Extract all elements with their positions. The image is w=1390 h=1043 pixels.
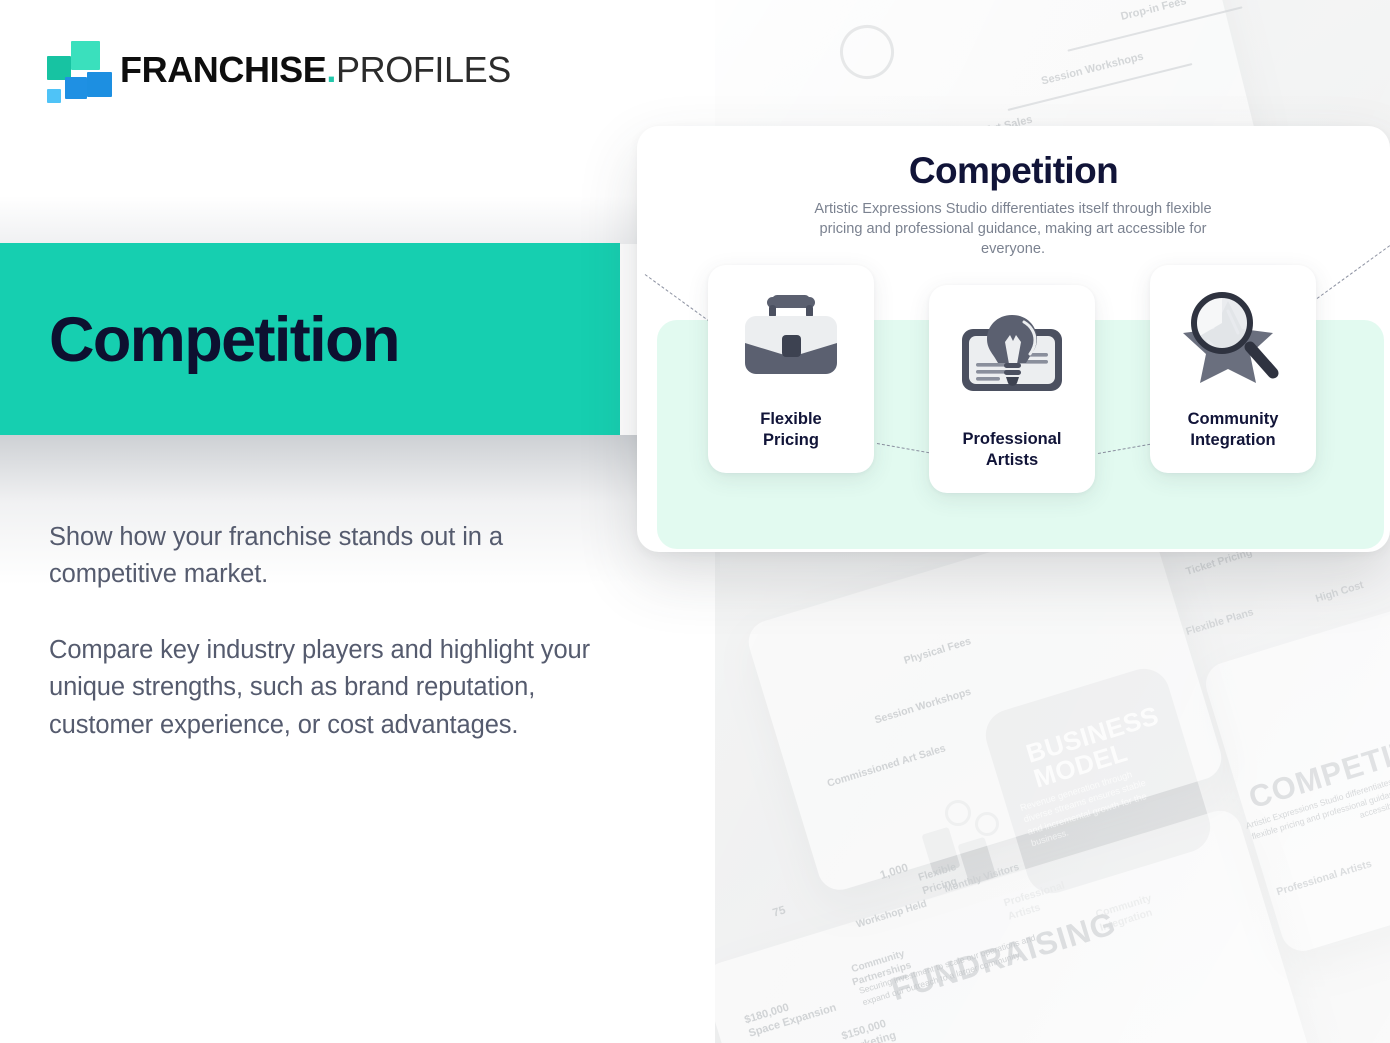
page-title: Competition [49,309,399,372]
brand-logo[interactable]: FRANCHISE.PROFILES [47,41,511,99]
description-paragraph-1: Show how your franchise stands out in a … [49,519,619,594]
logo-square-blue-large [87,72,112,97]
briefcase-icon [708,265,874,409]
connector-line-right [1317,245,1390,299]
connector-line-left [645,274,710,322]
slide-subtitle: Artistic Expressions Studio differentiat… [813,200,1213,260]
description-paragraph-2: Compare key industry players and highlig… [49,632,619,744]
feature-card-community-integration[interactable]: Community Integration [1150,265,1316,473]
feature-card-professional-artists[interactable]: Professional Artists [929,285,1095,493]
brand-word-light: PROFILES [336,49,511,90]
competition-slide-card[interactable]: Competition Artistic Expressions Studio … [637,126,1390,552]
left-top-shade [0,196,720,244]
left-description: Show how your franchise stands out in a … [49,519,619,744]
feature-card-flexible-pricing[interactable]: Flexible Pricing [708,265,874,473]
feature-label: Community Integration [1188,409,1279,473]
logo-square-blue-mid [65,77,87,99]
five-squares-logo-mark-icon [47,41,104,99]
lightbulb-screen-icon [929,285,1095,429]
logo-square-blue-small [47,89,61,103]
feature-label: Professional Artists [962,429,1061,493]
brand-word-dot: . [326,49,336,90]
logo-square-teal-large [71,41,100,70]
magnifier-star-icon [1150,265,1316,409]
slide-title: Competition [637,150,1390,192]
feature-label: Flexible Pricing [760,409,821,473]
brand-word-bold: FRANCHISE [120,49,326,90]
brand-wordmark: FRANCHISE.PROFILES [120,52,511,88]
slide-stage: Drop-in Fees Session Workshops Commissio… [0,0,1390,1043]
